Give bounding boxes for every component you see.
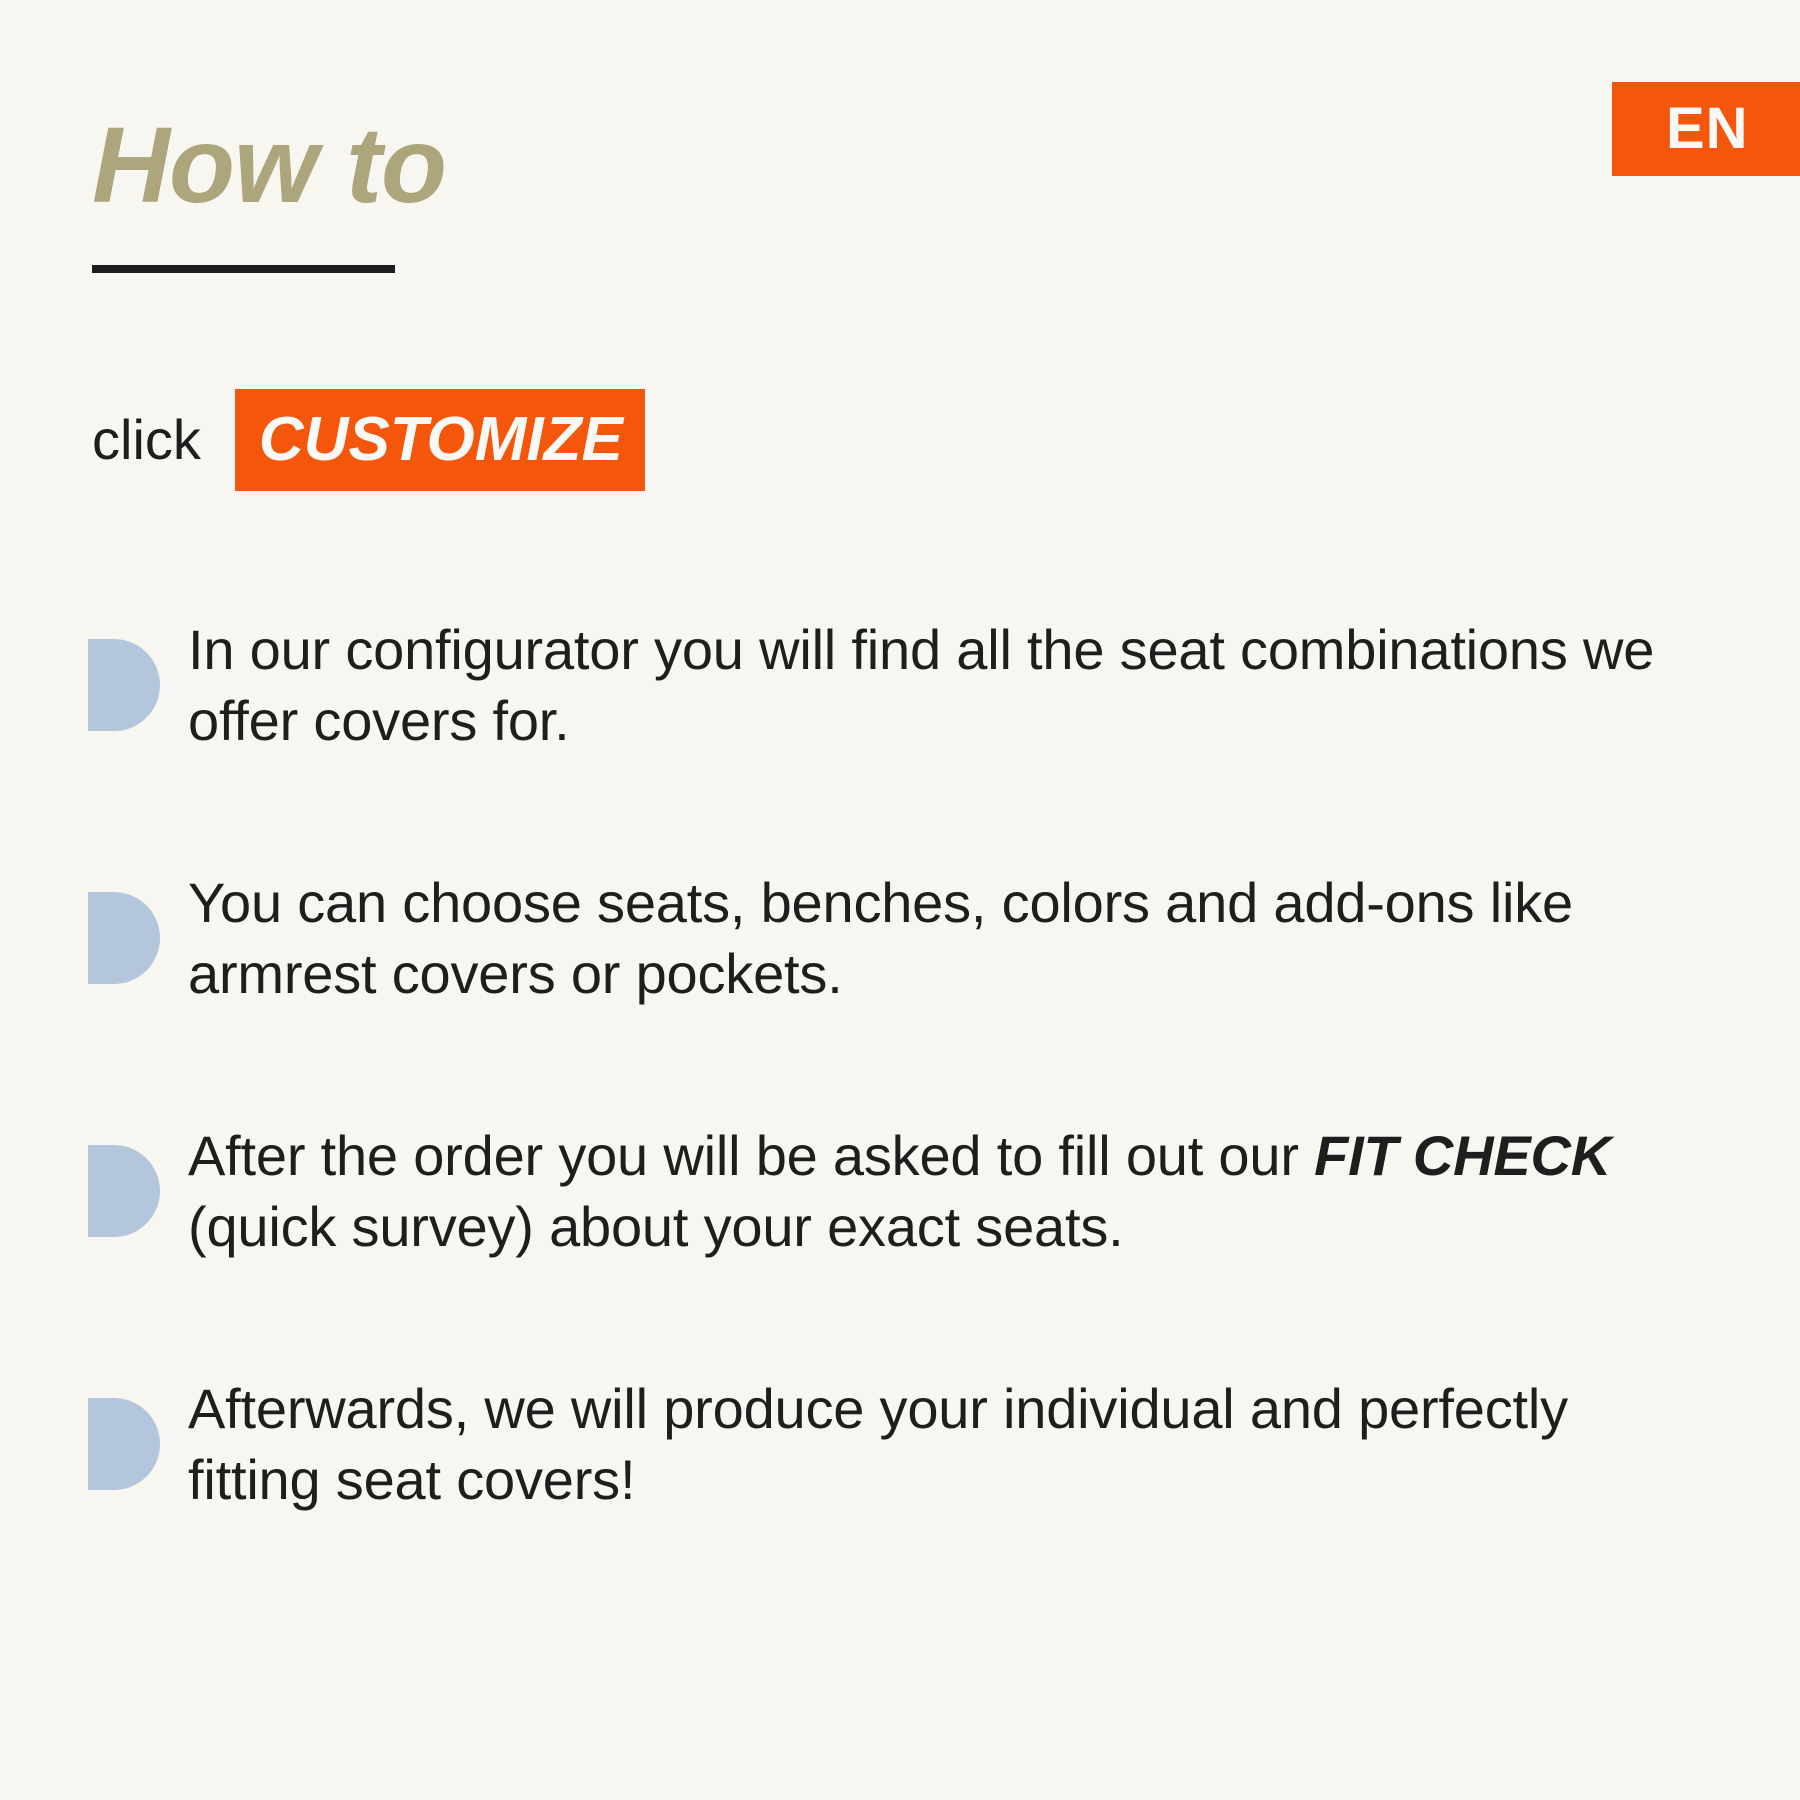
list-item-text-emphasis: FIT CHECK (1314, 1124, 1611, 1187)
list-item-text: In our configurator you will find all th… (188, 615, 1708, 756)
list-item: Afterwards, we will produce your individ… (88, 1374, 1708, 1515)
page-title-block: How to (92, 108, 446, 221)
bullet-d-shape-icon (88, 892, 160, 984)
cta-line: click CUSTOMIZE (92, 392, 645, 488)
cta-prefix-label: click (92, 412, 201, 468)
instruction-list: In our configurator you will find all th… (88, 615, 1708, 1515)
bullet-d-shape-icon (88, 1398, 160, 1490)
language-badge[interactable]: EN (1612, 82, 1800, 176)
list-item: You can choose seats, benches, colors an… (88, 868, 1708, 1009)
list-item-text-lead: After the order you will be asked to fil… (188, 1124, 1314, 1187)
page-title: How to (92, 108, 446, 221)
title-underline-rule (92, 265, 395, 273)
list-item: After the order you will be asked to fil… (88, 1121, 1708, 1262)
bullet-d-shape-icon (88, 1145, 160, 1237)
list-item: In our configurator you will find all th… (88, 615, 1708, 756)
customize-button[interactable]: CUSTOMIZE (235, 389, 645, 491)
language-badge-label: EN (1666, 100, 1749, 158)
list-item-text: You can choose seats, benches, colors an… (188, 868, 1708, 1009)
list-item-text: Afterwards, we will produce your individ… (188, 1374, 1708, 1515)
bullet-d-shape-icon (88, 639, 160, 731)
list-item-text: After the order you will be asked to fil… (188, 1121, 1708, 1262)
how-to-infographic: EN How to click CUSTOMIZE In our configu… (0, 0, 1800, 1800)
list-item-text-tail: (quick survey) about your exact seats. (188, 1195, 1124, 1258)
